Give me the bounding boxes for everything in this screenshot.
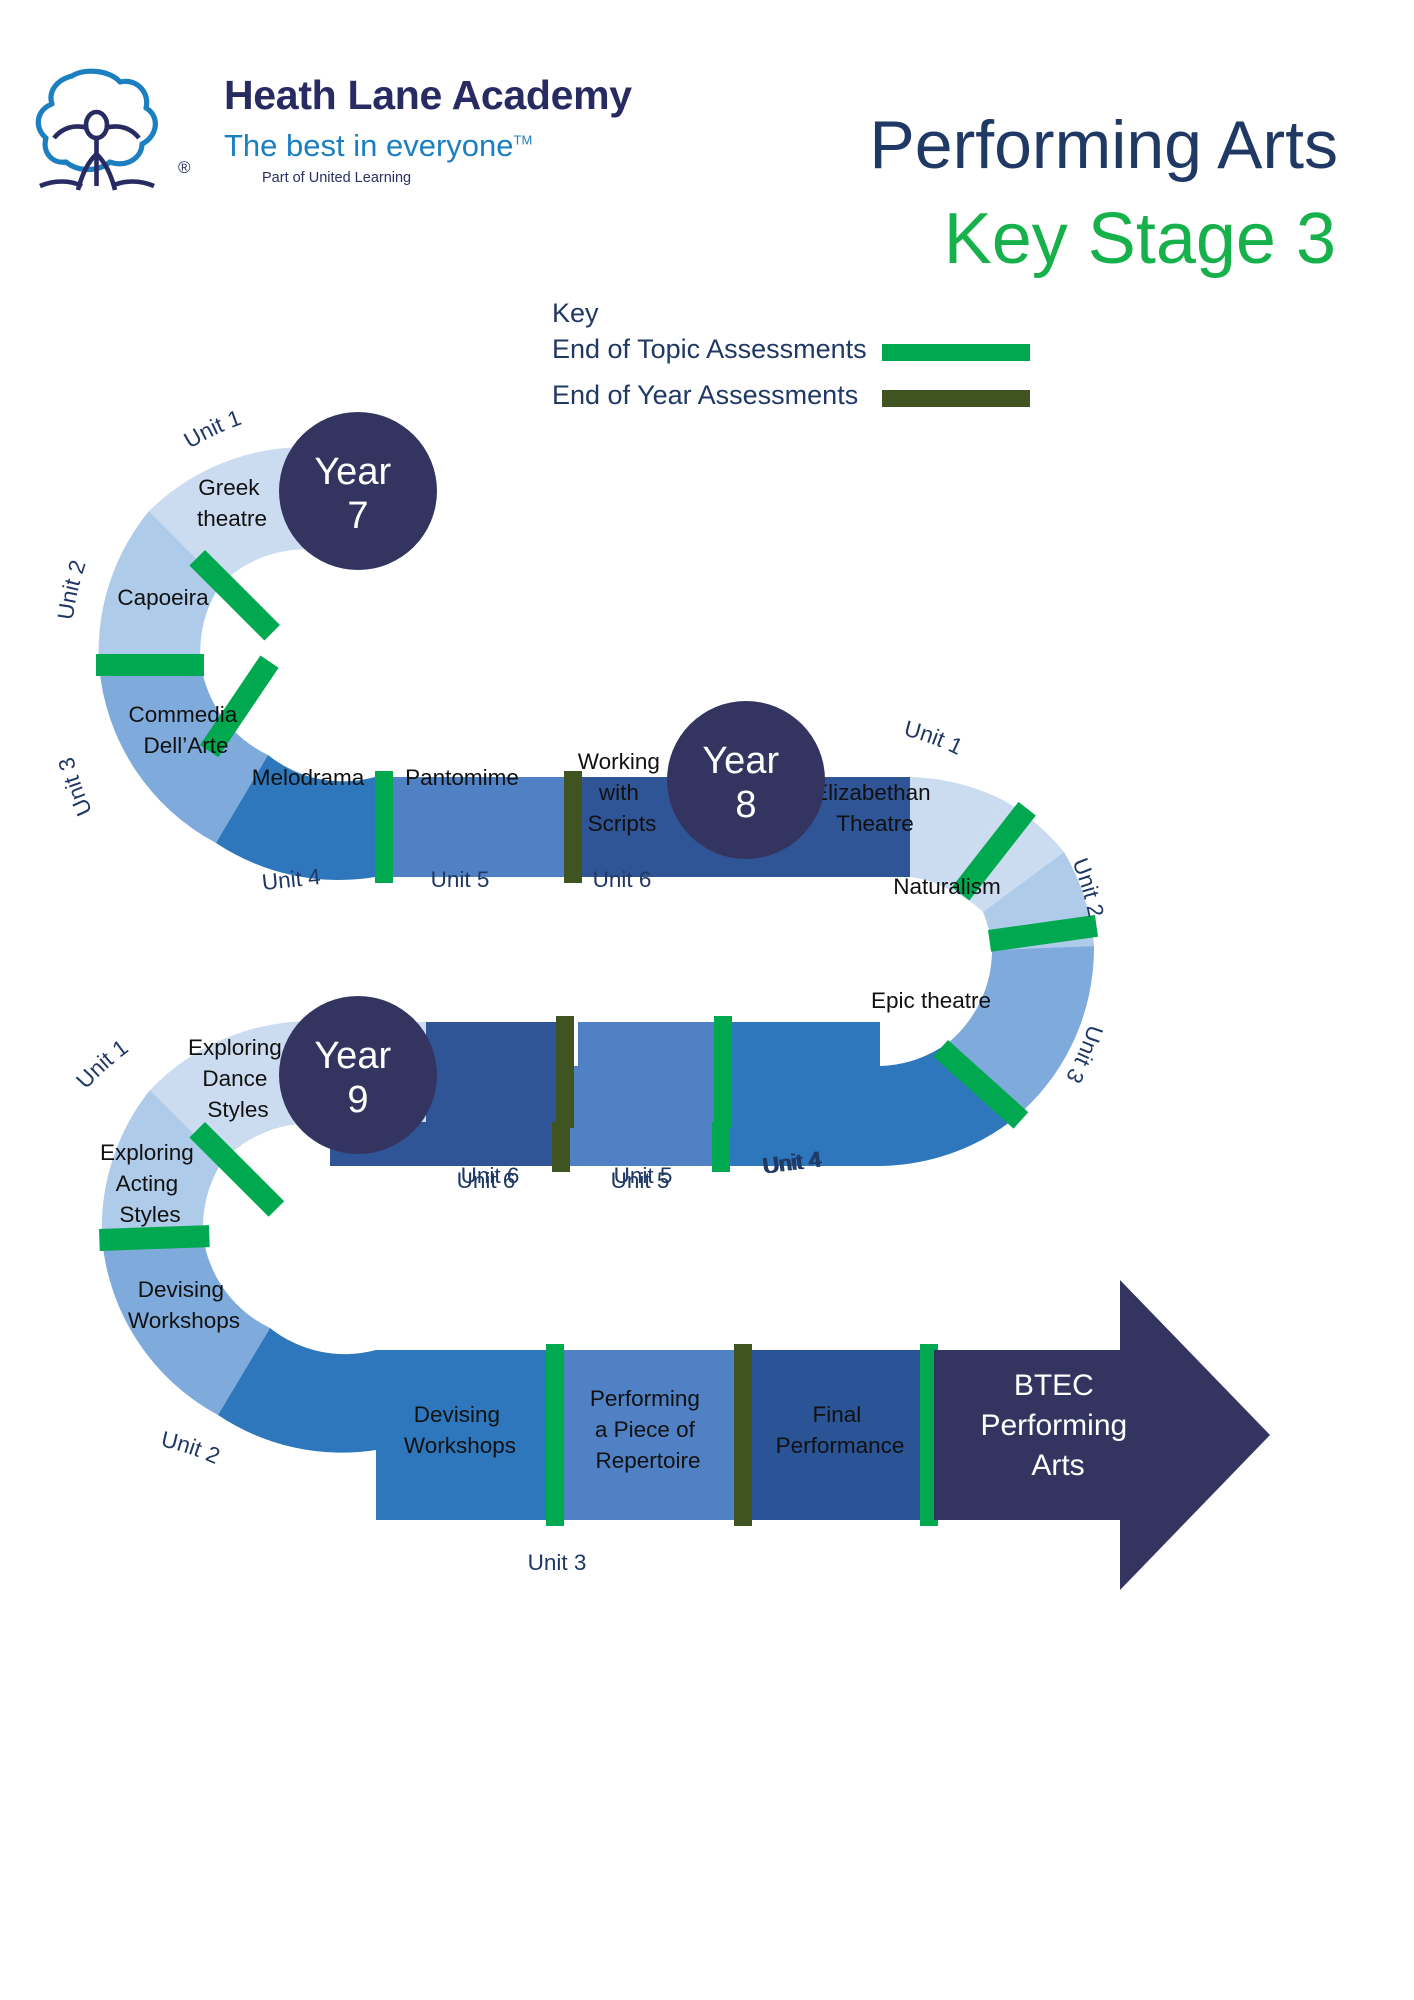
unit-label-y9-3: Unit 3 [528, 1550, 587, 1575]
school-logo: ® Heath Lane Academy The best in everyon… [26, 62, 546, 202]
unit-label-y7-2: Unit 2 [53, 557, 91, 621]
legend-label-topic: End of Topic Assessments [552, 334, 867, 365]
segment-label-y8-2: Naturalism [893, 874, 1001, 899]
trust-subtitle: Part of United Learning [262, 170, 411, 186]
assessment-topic-y9-bottom-1 [546, 1344, 564, 1526]
unit-label-y7-5: Unit 5 [431, 867, 490, 892]
assessment-topic-y9-2 [99, 1225, 210, 1251]
page-title-subject: Performing Arts [869, 106, 1338, 184]
segment-label-y8-3: Epic theatre [871, 988, 991, 1013]
assessment-year-y9-6 [556, 1016, 574, 1128]
segment-y7-unit5[interactable] [390, 777, 568, 877]
school-tagline: The best in everyoneTM [224, 128, 532, 164]
roadmap-svg: Unit 1 Unit 2 Unit 3 Unit 4 Unit 5 Unit … [0, 400, 1414, 2000]
school-name: Heath Lane Academy [224, 72, 632, 119]
unit-label-y7-3: Unit 3 [53, 755, 97, 820]
unit-label-y9-2: Unit 2 [159, 1426, 224, 1468]
trademark-mark: TM [514, 133, 533, 148]
registered-mark: ® [178, 158, 191, 178]
unit-label-y7-1: Unit 1 [180, 405, 245, 453]
segment-label-y7-2: Capoeira [117, 585, 209, 610]
tree-logo-icon [26, 62, 186, 194]
assessment-year-y9-bottom-2 [734, 1344, 752, 1526]
segment-label-y7-4: Melodrama [252, 765, 365, 790]
unit-label-y9-1: Unit 1 [71, 1035, 132, 1094]
segment-label-y7-5: Pantomime [405, 765, 519, 790]
tagline-text: The best in everyone [224, 128, 514, 163]
legend-item-topic: End of Topic Assessments [552, 334, 1072, 368]
page-header: ® Heath Lane Academy The best in everyon… [0, 0, 1414, 420]
curriculum-roadmap: Unit 1 Unit 2 Unit 3 Unit 4 Unit 5 Unit … [0, 400, 1414, 2000]
segment-y9-unit5[interactable] [578, 1022, 718, 1122]
assessment-year-y7-5 [564, 771, 582, 883]
unit-label-y7-6: Unit 6 [593, 867, 652, 892]
unit-label-y8-1: Unit 1 [902, 716, 967, 760]
segment-y9-unit6[interactable] [422, 1022, 566, 1122]
segment-y9-unit4[interactable] [730, 1022, 880, 1122]
assessment-topic-y7-4 [375, 771, 393, 883]
unit-label-y7-4: Unit 4 [261, 864, 322, 895]
unit-label-y9-upper-6: Unit 6 [461, 1163, 520, 1188]
segment-label-bottom-2: Performing a Piece of Repertoire [590, 1386, 706, 1473]
unit-label-y9-upper-5: Unit 5 [614, 1163, 673, 1188]
legend-swatch-topic [882, 344, 1030, 361]
assessment-topic-y9-4 [714, 1016, 732, 1128]
assessment-topic-y7-2 [96, 654, 204, 676]
legend-title: Key [552, 298, 599, 329]
page-title-keystage: Key Stage 3 [944, 198, 1336, 280]
